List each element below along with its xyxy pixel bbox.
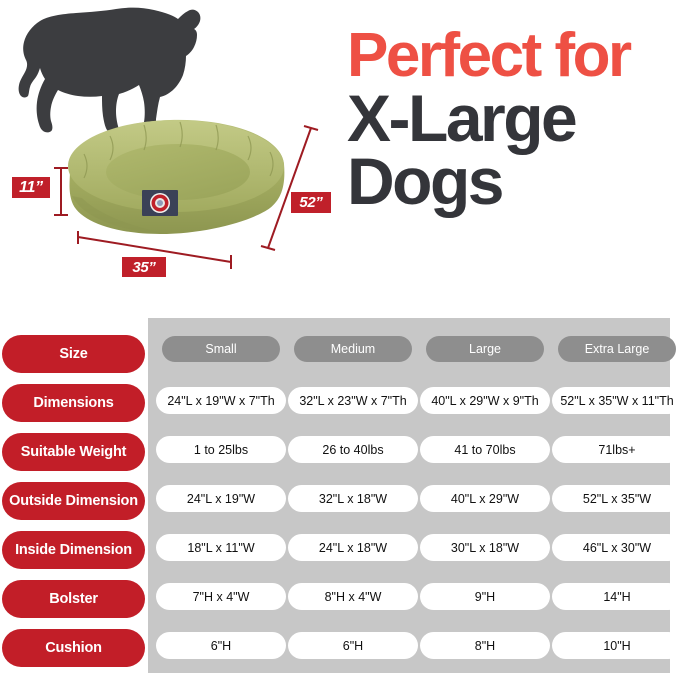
row-label-outside-dimension: Outside Dimension [2, 482, 145, 520]
headline-line-3: Dogs [347, 151, 677, 212]
cell-bolster-large: 9"H [420, 583, 550, 610]
cell-inside-dimension-extra-large: 46"L x 30"W [552, 534, 679, 561]
cell-outside-dimension-small: 24"L x 19"W [156, 485, 286, 512]
cell-outside-dimension-large: 40"L x 29"W [420, 485, 550, 512]
row-label-inside-dimension: Inside Dimension [2, 531, 145, 569]
row-label-bolster: Bolster [2, 580, 145, 618]
hero-section: 11” 35” 52” Perfect for X-Large Dogs [0, 0, 679, 318]
cell-suitable-weight-large: 41 to 70lbs [420, 436, 550, 463]
row-label-size: Size [2, 335, 145, 373]
row-label-dimensions: Dimensions [2, 384, 145, 422]
cell-suitable-weight-medium: 26 to 40lbs [288, 436, 418, 463]
cell-outside-dimension-medium: 32"L x 18"W [288, 485, 418, 512]
cell-bolster-extra-large: 14"H [552, 583, 679, 610]
cell-cushion-medium: 6"H [288, 632, 418, 659]
cell-bolster-small: 7"H x 4"W [156, 583, 286, 610]
headline-line-2: X-Large [347, 88, 677, 149]
row-label-suitable-weight: Suitable Weight [2, 433, 145, 471]
headline: Perfect for X-Large Dogs [347, 27, 677, 211]
cell-suitable-weight-small: 1 to 25lbs [156, 436, 286, 463]
cell-inside-dimension-medium: 24"L x 18"W [288, 534, 418, 561]
brand-logo-tag-icon [142, 190, 178, 216]
cell-dimensions-medium: 32"L x 23"W x 7"Th [288, 387, 418, 414]
specification-table: Size Dimensions Suitable Weight Outside … [0, 318, 679, 673]
row-label-column: Size Dimensions Suitable Weight Outside … [0, 318, 148, 673]
cell-dimensions-small: 24"L x 19"W x 7"Th [156, 387, 286, 414]
cell-bolster-medium: 8"H x 4"W [288, 583, 418, 610]
cell-cushion-small: 6"H [156, 632, 286, 659]
table-cells: 24"L x 19"W x 7"Th 32"L x 23"W x 7"Th 40… [148, 318, 670, 673]
cell-cushion-large: 8"H [420, 632, 550, 659]
cell-dimensions-extra-large: 52"L x 35"W x 11"Th [552, 387, 679, 414]
dimension-badge-width: 35” [122, 257, 166, 277]
cell-suitable-weight-extra-large: 71lbs+ [552, 436, 679, 463]
cell-inside-dimension-small: 18"L x 11"W [156, 534, 286, 561]
dimension-badge-length: 52” [291, 192, 331, 213]
cell-inside-dimension-large: 30"L x 18"W [420, 534, 550, 561]
dimension-badge-height: 11” [12, 177, 50, 198]
headline-line-1: Perfect for [347, 27, 677, 84]
dog-bed-photo [48, 92, 298, 260]
cell-outside-dimension-extra-large: 52"L x 35"W [552, 485, 679, 512]
cell-cushion-extra-large: 10"H [552, 632, 679, 659]
cell-dimensions-large: 40"L x 29"W x 9"Th [420, 387, 550, 414]
row-label-cushion: Cushion [2, 629, 145, 667]
